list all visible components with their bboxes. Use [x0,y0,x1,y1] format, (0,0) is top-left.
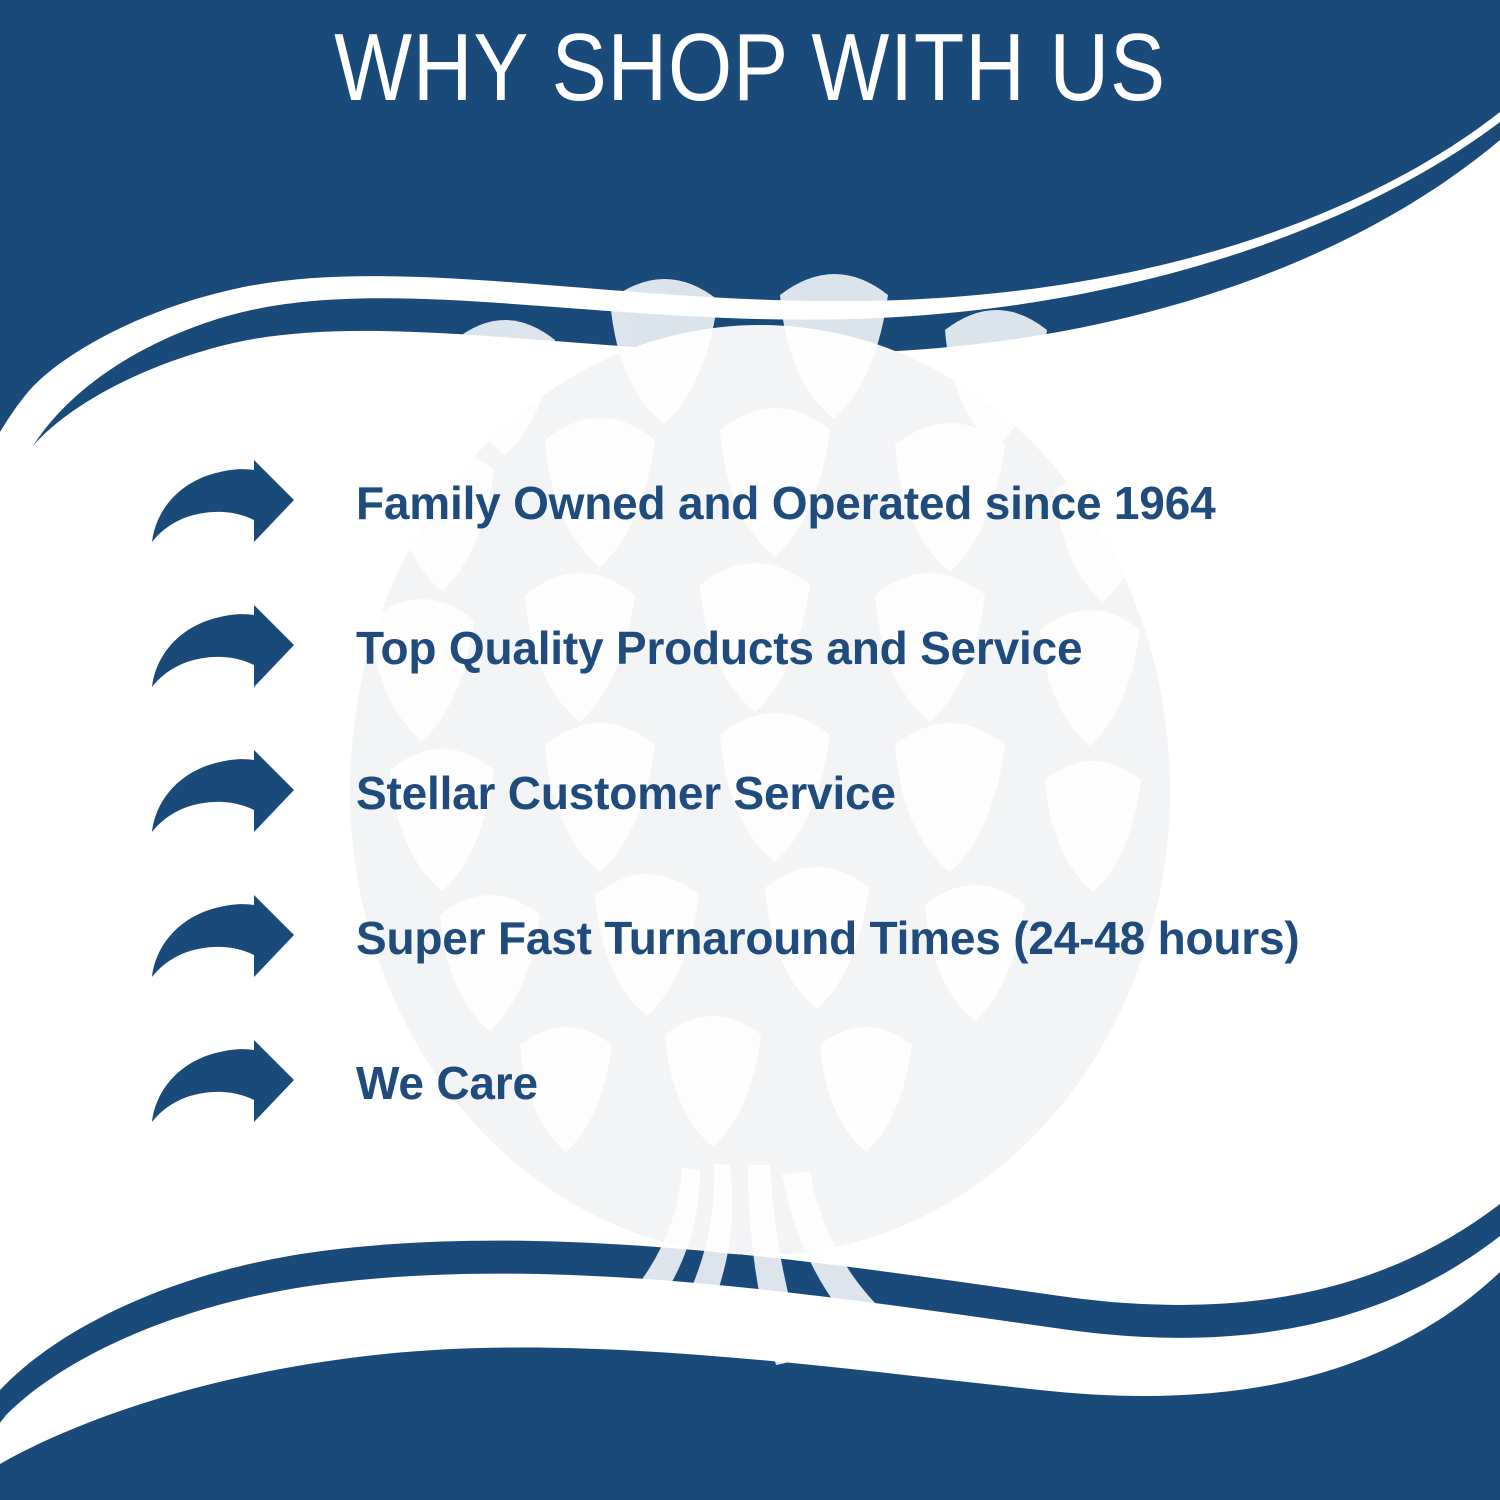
curved-arrow-right-icon [148,1038,298,1128]
list-item: Top Quality Products and Service [0,575,1500,720]
list-item: Super Fast Turnaround Times (24-48 hours… [0,865,1500,1010]
list-item-label: Top Quality Products and Service [356,625,1082,671]
curved-arrow-right-icon [148,458,298,548]
curved-arrow-right-icon [148,893,298,983]
list-item-label: Super Fast Turnaround Times (24-48 hours… [356,915,1300,961]
list-item: We Care [0,1010,1500,1155]
list-item-label: Family Owned and Operated since 1964 [356,480,1215,526]
curved-arrow-right-icon [148,748,298,838]
page-title: WHY SHOP WITH US [105,18,1395,119]
list-item-label: Stellar Customer Service [356,770,896,816]
curved-arrow-right-icon [148,603,298,693]
list-item: Stellar Customer Service [0,720,1500,865]
benefits-list: Family Owned and Operated since 1964 Top… [0,430,1500,1155]
promo-banner: WHY SHOP WITH US Family Owned and Operat… [0,0,1500,1500]
list-item-label: We Care [356,1060,538,1106]
list-item: Family Owned and Operated since 1964 [0,430,1500,575]
